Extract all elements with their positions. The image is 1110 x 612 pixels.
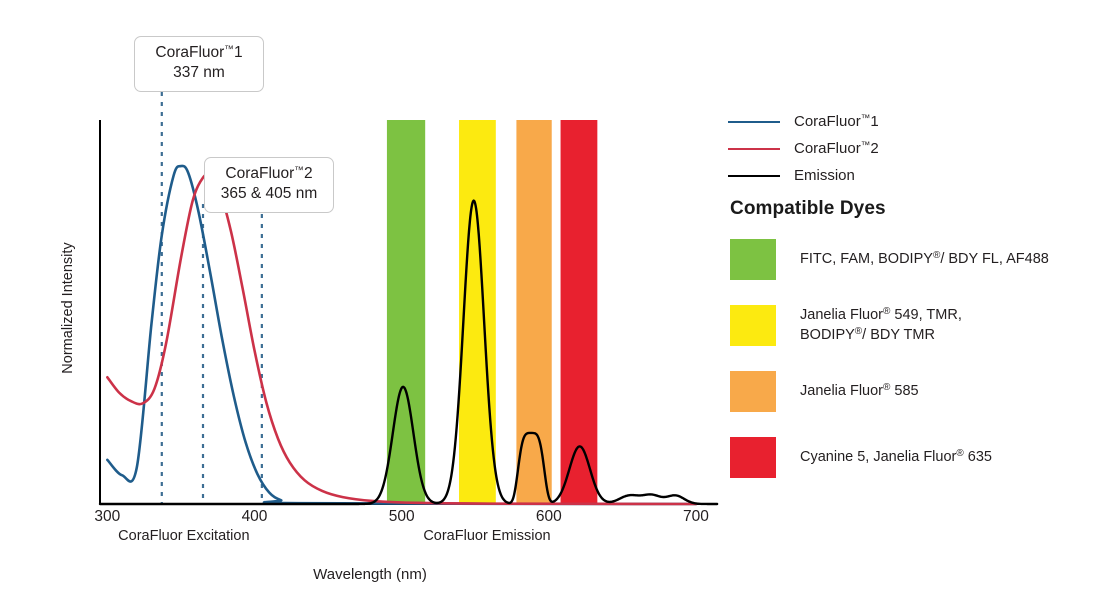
dye-label-line: Janelia Fluor® 585 bbox=[800, 381, 919, 401]
registered-symbol: ® bbox=[883, 382, 890, 393]
registered-symbol: ® bbox=[956, 448, 963, 459]
x-tick-400: 400 bbox=[225, 508, 285, 526]
dye-row-1: Janelia Fluor® 549, TMR,BODIPY®/ BDY TMR bbox=[730, 300, 1106, 350]
callout-2-title: CoraFluor™2 bbox=[217, 164, 321, 184]
emission-region-label: CoraFluor Emission bbox=[377, 528, 597, 544]
callout-corafluor2: CoraFluor™2 365 & 405 nm bbox=[204, 157, 334, 213]
x-axis-title: Wavelength (nm) bbox=[0, 566, 740, 583]
dye-color-swatch bbox=[730, 371, 776, 412]
compatible-dyes-list: FITC, FAM, BODIPY®/ BDY FL, AF488Janelia… bbox=[730, 234, 1106, 498]
dye-color-swatch bbox=[730, 437, 776, 478]
legend-label-main: CoraFluor bbox=[794, 113, 861, 130]
legend-label-main: CoraFluor bbox=[794, 140, 861, 157]
x-tick-600: 600 bbox=[519, 508, 579, 526]
callout-1-title: CoraFluor™1 bbox=[147, 43, 251, 63]
dye-label: Cyanine 5, Janelia Fluor® 635 bbox=[800, 447, 992, 467]
registered-symbol: ® bbox=[883, 306, 890, 317]
legend-label: CoraFluor™1 bbox=[794, 113, 879, 130]
registered-symbol: ® bbox=[933, 250, 940, 261]
trademark-symbol: ™ bbox=[294, 165, 304, 176]
legend-label: CoraFluor™2 bbox=[794, 140, 879, 157]
dye-row-2: Janelia Fluor® 585 bbox=[730, 366, 1106, 416]
legend-line-swatch bbox=[728, 148, 780, 150]
legend-row-2: Emission bbox=[728, 162, 1098, 189]
legend-label: Emission bbox=[794, 167, 855, 184]
legend-label-number: 2 bbox=[870, 140, 878, 157]
trademark-symbol: ™ bbox=[861, 113, 871, 124]
excitation-region-label: CoraFluor Excitation bbox=[74, 528, 294, 544]
series-legend: CoraFluor™1CoraFluor™2Emission bbox=[728, 108, 1098, 189]
callout-1-value: 337 nm bbox=[147, 63, 251, 83]
trademark-symbol: ™ bbox=[224, 44, 234, 55]
compatible-dyes-heading: Compatible Dyes bbox=[730, 198, 886, 220]
legend-line-swatch bbox=[728, 175, 780, 177]
spectra-figure: CoraFluor™1 337 nm CoraFluor™2 365 & 405… bbox=[0, 0, 1110, 612]
dye-label-line: FITC, FAM, BODIPY®/ BDY FL, AF488 bbox=[800, 249, 1049, 269]
x-tick-500: 500 bbox=[372, 508, 432, 526]
green-band bbox=[387, 120, 425, 504]
legend-line-swatch bbox=[728, 121, 780, 123]
legend-row-0: CoraFluor™1 bbox=[728, 108, 1098, 135]
x-tick-700: 700 bbox=[666, 508, 726, 526]
registered-symbol: ® bbox=[855, 326, 862, 337]
legend-row-1: CoraFluor™2 bbox=[728, 135, 1098, 162]
dye-color-swatch bbox=[730, 239, 776, 280]
callout-corafluor1: CoraFluor™1 337 nm bbox=[134, 36, 264, 92]
dye-label: FITC, FAM, BODIPY®/ BDY FL, AF488 bbox=[800, 249, 1049, 269]
trademark-symbol: ™ bbox=[861, 140, 871, 151]
legend-label-main: Emission bbox=[794, 167, 855, 184]
dye-label: Janelia Fluor® 585 bbox=[800, 381, 919, 401]
dye-label-line: Janelia Fluor® 549, TMR, bbox=[800, 305, 962, 325]
callout-2-value: 365 & 405 nm bbox=[217, 184, 321, 204]
dye-label-line: Cyanine 5, Janelia Fluor® 635 bbox=[800, 447, 992, 467]
legend-label-number: 1 bbox=[870, 113, 878, 130]
dye-label-line: BODIPY®/ BDY TMR bbox=[800, 325, 962, 345]
dye-label: Janelia Fluor® 549, TMR,BODIPY®/ BDY TMR bbox=[800, 305, 962, 346]
y-axis-title: Normalized Intensity bbox=[60, 213, 76, 403]
dye-row-0: FITC, FAM, BODIPY®/ BDY FL, AF488 bbox=[730, 234, 1106, 284]
dye-row-3: Cyanine 5, Janelia Fluor® 635 bbox=[730, 432, 1106, 482]
dye-color-swatch bbox=[730, 305, 776, 346]
x-tick-300: 300 bbox=[77, 508, 137, 526]
